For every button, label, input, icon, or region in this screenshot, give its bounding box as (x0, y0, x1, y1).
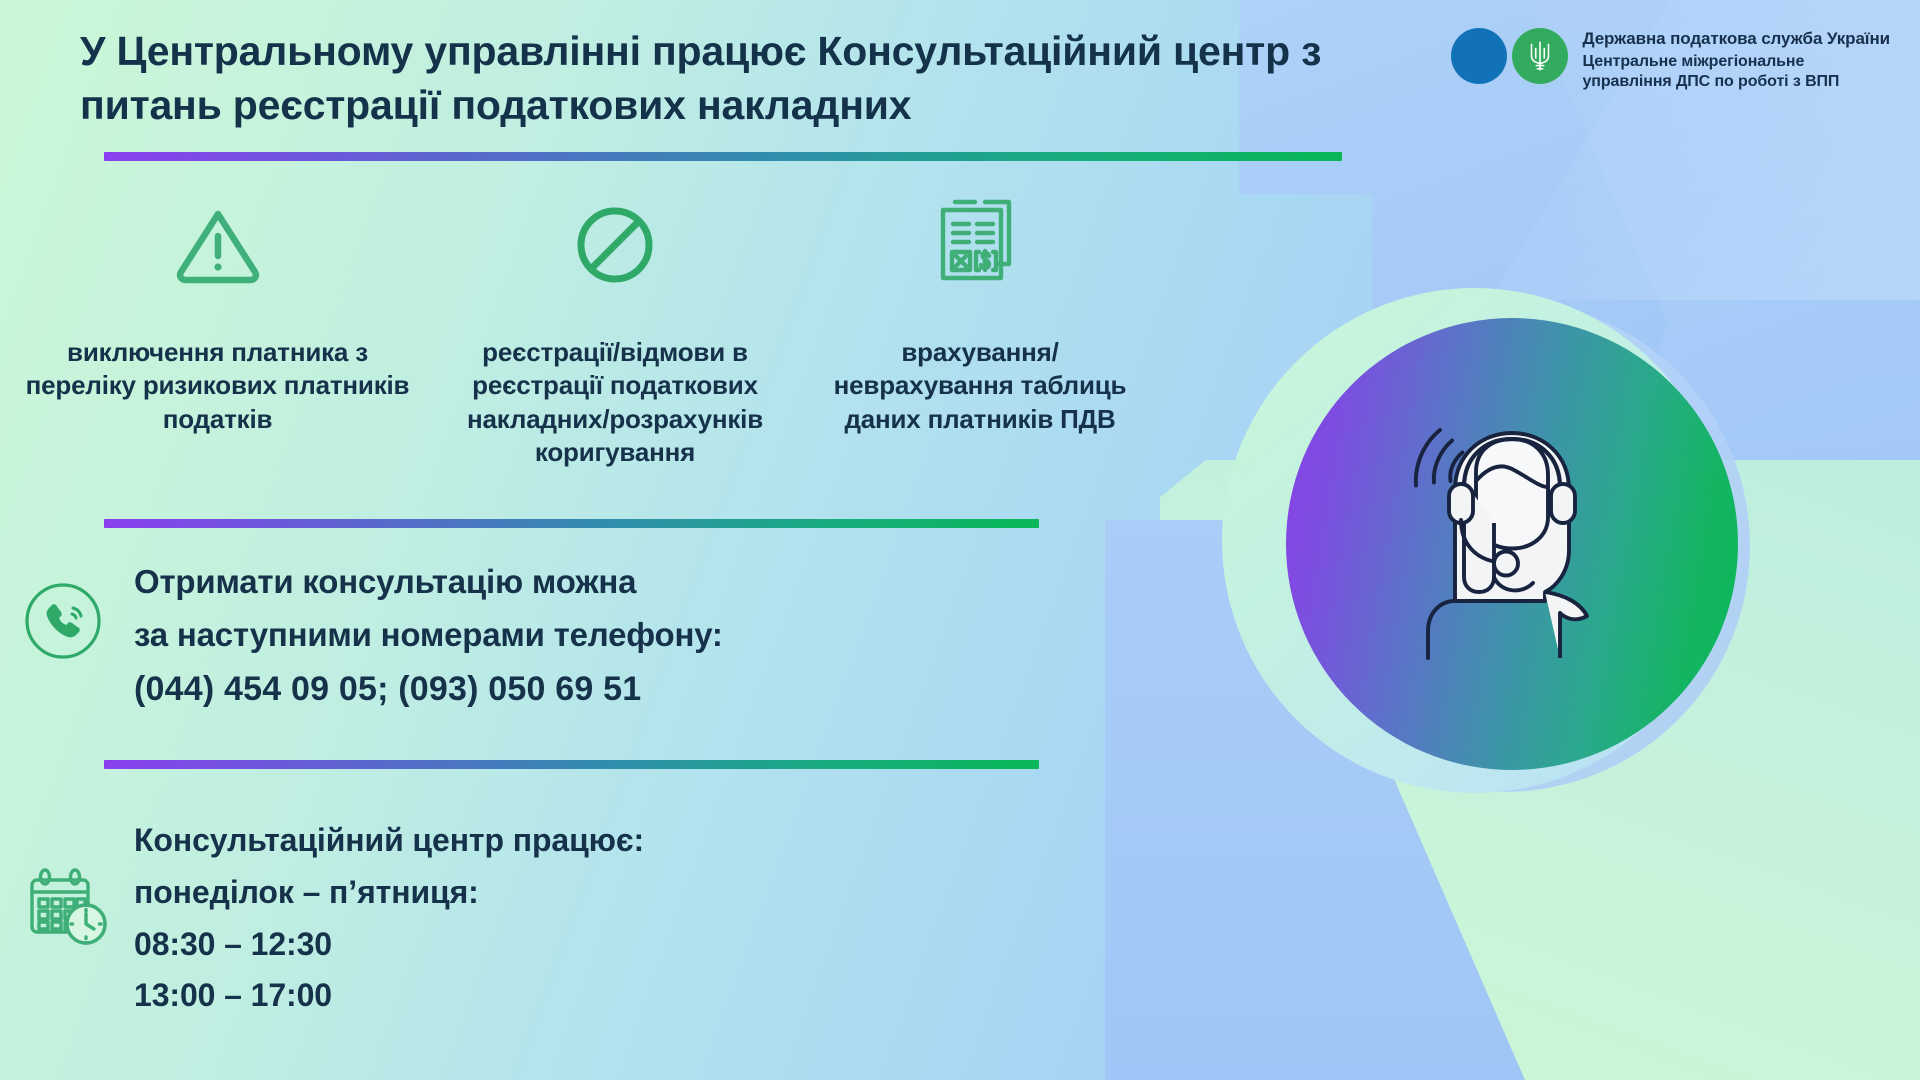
contact-block: Отримати консультацію можна за наступним… (134, 555, 723, 717)
prohibition-icon (574, 190, 656, 300)
tryzub-icon (1527, 39, 1553, 73)
schedule-slot-1: 08:30 – 12:30 (134, 919, 644, 971)
contact-phone-numbers[interactable]: (044) 454 09 05; (093) 050 69 51 (134, 662, 723, 717)
topic-column-3: врахування/ неврахування таблиць даних п… (815, 190, 1145, 469)
logo-green-circle-icon (1512, 28, 1568, 84)
topic-label-1: виключення платника з переліку ризикових… (20, 336, 415, 436)
logo-blue-circle-icon (1451, 28, 1507, 84)
divider-bottom (104, 760, 1039, 769)
page-title: У Центральному управлінні працює Консуль… (80, 24, 1380, 132)
contact-line-2: за наступними номерами телефону: (134, 608, 723, 661)
schedule-title: Консультаційний центр працює: (134, 815, 644, 867)
divider-top (104, 152, 1342, 161)
logo-text: Державна податкова служба України Центра… (1582, 26, 1890, 92)
schedule-days: понеділок – п’ятниця: (134, 867, 644, 919)
calendar-clock-icon (18, 862, 110, 954)
phone-circle-icon (22, 580, 104, 662)
logo-marks (1451, 26, 1568, 84)
schedule-block: Консультаційний центр працює: понеділок … (134, 815, 644, 1022)
contact-line-1: Отримати консультацію можна (134, 555, 723, 608)
topics-row: виключення платника з переліку ризикових… (20, 190, 1220, 469)
organization-logo: Державна податкова служба України Центра… (1451, 26, 1890, 92)
logo-title-line3: управління ДПС по роботі з ВПП (1582, 73, 1839, 90)
logo-title-line2: Центральне міжрегіональне (1582, 53, 1804, 70)
topic-column-1: виключення платника з переліку ризикових… (20, 190, 415, 469)
topic-label-2: реєстрації/відмови в реєстрації податков… (415, 336, 815, 469)
warning-triangle-icon (175, 190, 261, 300)
headset-operator-illustration (1286, 318, 1738, 770)
operator-figure-icon (1362, 394, 1662, 694)
schedule-slot-2: 13:00 – 17:00 (134, 970, 644, 1022)
topic-column-2: реєстрації/відмови в реєстрації податков… (415, 190, 815, 469)
divider-middle (104, 519, 1039, 528)
logo-title-line1: Державна податкова служба України (1582, 29, 1890, 49)
topic-label-3: врахування/ неврахування таблиць даних п… (815, 336, 1145, 436)
documents-icon (925, 190, 1035, 310)
